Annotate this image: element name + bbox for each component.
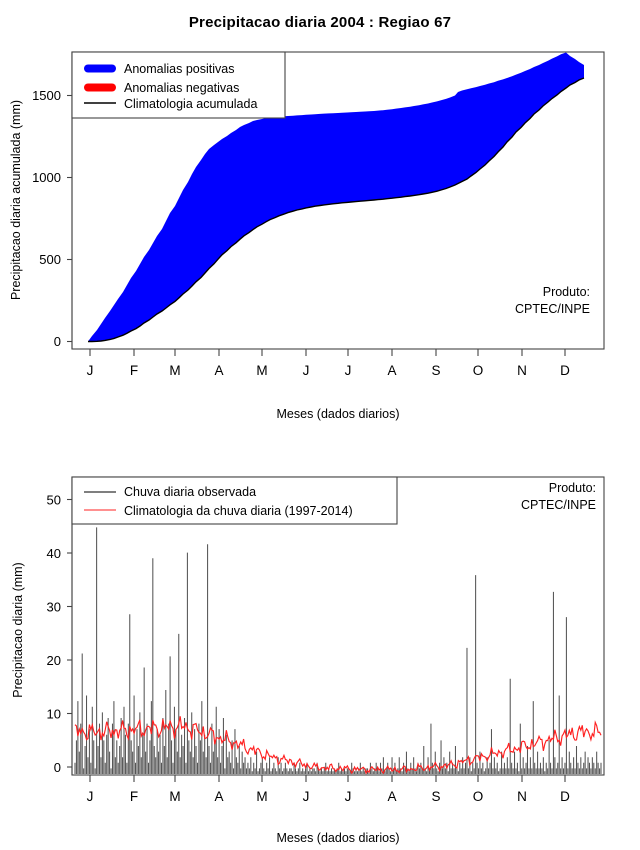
accumulated-xaxis: J F M A M J J A S O N D bbox=[87, 349, 571, 378]
daily-xtick-0: J bbox=[87, 789, 94, 804]
daily-chart-svg: Precipitacao diaria (mm) 0 10 20 30 40 5… bbox=[0, 430, 640, 850]
daily-ytick-4: 40 bbox=[47, 546, 61, 561]
accumulated-legend: Anomalias positivas Anomalias negativas … bbox=[72, 52, 285, 118]
daily-produto-annotation: Produto: CPTEC/INPE bbox=[521, 481, 596, 512]
accumulated-xlabel: Meses (dados diarios) bbox=[277, 407, 400, 421]
accumulated-produto-line1: Produto: bbox=[543, 285, 590, 299]
accumulated-xtick-10: N bbox=[517, 363, 527, 378]
daily-observed-bars bbox=[75, 527, 601, 774]
daily-legend-label-0: Chuva diaria observada bbox=[124, 485, 256, 499]
figure-root: Precipitacao diaria 2004 : Regiao 67 Pre… bbox=[0, 0, 640, 850]
accumulated-xtick-7: A bbox=[387, 363, 396, 378]
accumulated-xtick-1: F bbox=[130, 363, 138, 378]
daily-xtick-7: A bbox=[387, 789, 396, 804]
accumulated-xtick-9: O bbox=[473, 363, 484, 378]
daily-yaxis: 0 10 20 30 40 50 bbox=[47, 477, 72, 775]
accumulated-xtick-11: D bbox=[560, 363, 570, 378]
daily-legend: Chuva diaria observada Climatologia da c… bbox=[72, 477, 397, 524]
daily-ytick-0: 0 bbox=[54, 760, 61, 775]
daily-xtick-11: D bbox=[560, 789, 570, 804]
daily-ytick-2: 20 bbox=[47, 653, 61, 668]
daily-xtick-5: J bbox=[303, 789, 310, 804]
accumulated-legend-label-1: Anomalias negativas bbox=[124, 81, 239, 95]
legend-swatch-positive-anomaly-icon bbox=[84, 65, 116, 73]
accumulated-ytick-0: 0 bbox=[54, 334, 61, 349]
panel-daily: Precipitacao diaria (mm) 0 10 20 30 40 5… bbox=[0, 430, 640, 850]
accumulated-xtick-2: M bbox=[169, 363, 180, 378]
accumulated-produto-annotation: Produto: CPTEC/INPE bbox=[515, 285, 590, 316]
daily-xtick-10: N bbox=[517, 789, 527, 804]
accumulated-xtick-0: J bbox=[87, 363, 94, 378]
panel-accumulated: Precipitacao diaria acumulada (mm) 0 500… bbox=[0, 0, 640, 430]
daily-xaxis: J F M A M J J A S O N D bbox=[87, 775, 571, 804]
daily-produto-line1: Produto: bbox=[549, 481, 596, 495]
daily-ytick-3: 30 bbox=[47, 600, 61, 615]
legend-swatch-negative-anomaly-icon bbox=[84, 84, 116, 92]
daily-xtick-4: M bbox=[256, 789, 267, 804]
daily-xtick-9: O bbox=[473, 789, 484, 804]
accumulated-produto-line2: CPTEC/INPE bbox=[515, 302, 590, 316]
daily-legend-label-1: Climatologia da chuva diaria (1997-2014) bbox=[124, 504, 353, 518]
daily-produto-line2: CPTEC/INPE bbox=[521, 498, 596, 512]
accumulated-xtick-3: A bbox=[214, 363, 223, 378]
accumulated-yaxis: 0 500 1000 1500 bbox=[32, 52, 72, 349]
daily-xtick-3: A bbox=[214, 789, 223, 804]
accumulated-ytick-2: 1000 bbox=[32, 170, 61, 185]
daily-xtick-8: S bbox=[431, 789, 440, 804]
accumulated-ylabel: Precipitacao diaria acumulada (mm) bbox=[9, 100, 23, 300]
daily-xlabel: Meses (dados diarios) bbox=[277, 831, 400, 845]
daily-ytick-5: 50 bbox=[47, 493, 61, 508]
accumulated-xtick-8: S bbox=[431, 363, 440, 378]
daily-ytick-1: 10 bbox=[47, 707, 61, 722]
accumulated-xtick-4: M bbox=[256, 363, 267, 378]
accumulated-chart-svg: Precipitacao diaria acumulada (mm) 0 500… bbox=[0, 0, 640, 430]
accumulated-xtick-5: J bbox=[303, 363, 310, 378]
daily-xtick-6: J bbox=[345, 789, 352, 804]
accumulated-ytick-3: 1500 bbox=[32, 88, 61, 103]
daily-xtick-2: M bbox=[169, 789, 180, 804]
accumulated-legend-label-2: Climatologia acumulada bbox=[124, 97, 257, 111]
daily-ylabel: Precipitacao diaria (mm) bbox=[11, 562, 25, 697]
accumulated-legend-label-0: Anomalias positivas bbox=[124, 62, 234, 76]
accumulated-ytick-1: 500 bbox=[39, 252, 61, 267]
accumulated-xtick-6: J bbox=[345, 363, 352, 378]
daily-xtick-1: F bbox=[130, 789, 138, 804]
